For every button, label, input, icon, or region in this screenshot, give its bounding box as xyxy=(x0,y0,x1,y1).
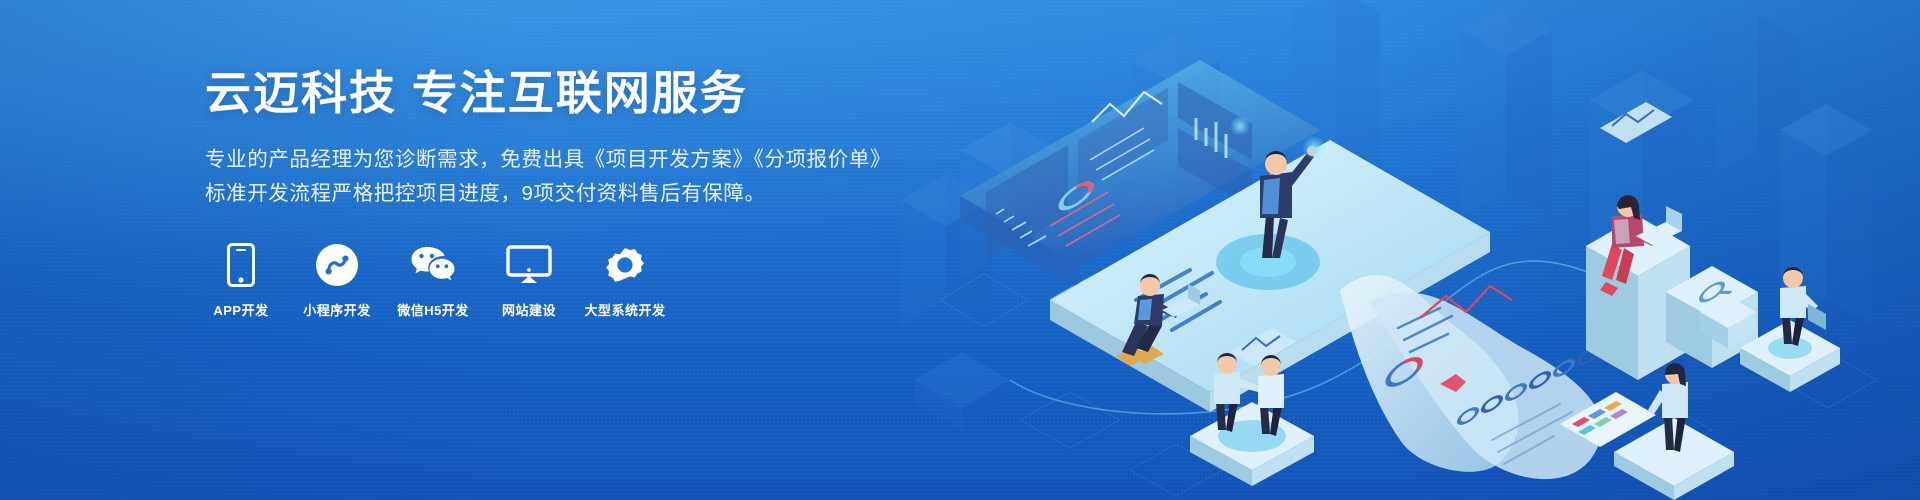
hero-banner: 云迈科技 专注互联网服务 专业的产品经理为您诊断需求，免费出具《项目开发方案》《… xyxy=(0,0,1920,500)
hero-subtitle: 专业的产品经理为您诊断需求，免费出具《项目开发方案》《分项报价单》 标准开发流程… xyxy=(205,143,925,211)
page-title: 云迈科技 专注互联网服务 xyxy=(205,66,925,121)
service-list: APP开发 小程序开发 xyxy=(205,241,925,319)
subtitle-line-2: 标准开发流程严格把控项目进度，9项交付资料售后有保障。 xyxy=(205,177,925,211)
service-label-wechat: 微信H5开发 xyxy=(397,300,469,319)
phone-icon xyxy=(227,241,255,289)
service-item-wechat[interactable]: 微信H5开发 xyxy=(397,241,469,319)
service-label-website: 网站建设 xyxy=(502,300,556,319)
service-label-system: 大型系统开发 xyxy=(585,300,666,319)
miniprogram-icon xyxy=(315,241,359,289)
monitor-icon xyxy=(506,241,552,289)
hero-content: 云迈科技 专注互联网服务 专业的产品经理为您诊断需求，免费出具《项目开发方案》《… xyxy=(205,66,925,319)
service-item-miniprogram[interactable]: 小程序开发 xyxy=(301,241,373,319)
woman-tile xyxy=(1614,418,1734,500)
service-item-app[interactable]: APP开发 xyxy=(205,241,277,319)
subtitle-line-1: 专业的产品经理为您诊断需求，免费出具《项目开发方案》《分项报价单》 xyxy=(205,143,925,177)
hero-illustration xyxy=(900,0,1920,500)
service-label-app: APP开发 xyxy=(213,300,268,319)
service-item-system[interactable]: 大型系统开发 xyxy=(589,241,661,319)
two-people-tile xyxy=(1190,402,1314,486)
gear-icon xyxy=(604,241,646,289)
wechat-icon xyxy=(410,241,456,289)
service-item-website[interactable]: 网站建设 xyxy=(493,241,565,319)
service-label-miniprogram: 小程序开发 xyxy=(303,300,371,319)
data-ribbon xyxy=(1340,275,1602,479)
